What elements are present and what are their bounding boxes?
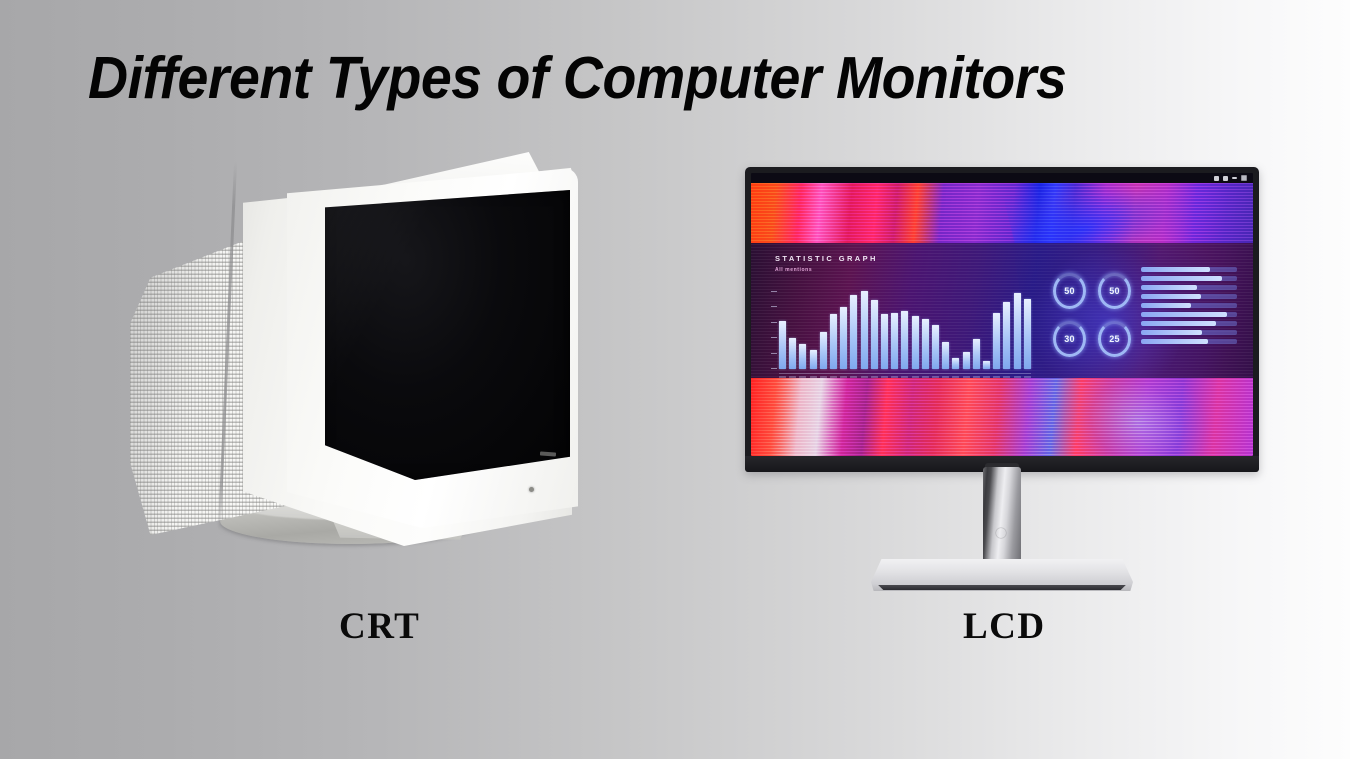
lcd-stand-base-edge bbox=[873, 585, 1131, 590]
bar bbox=[779, 321, 786, 369]
crt-caption: CRT bbox=[339, 605, 420, 648]
wallpaper-top-scanlines bbox=[751, 183, 1253, 247]
gauge-4: 25 bbox=[1094, 317, 1135, 361]
progress-bar-group bbox=[1141, 267, 1237, 344]
bar bbox=[1003, 302, 1010, 369]
progress-bar bbox=[1141, 312, 1237, 317]
bar bbox=[942, 342, 949, 369]
axis-tick bbox=[771, 353, 777, 354]
poster-canvas: Different Types of Computer Monitors CRT bbox=[0, 0, 1350, 759]
bar bbox=[861, 291, 868, 369]
crt-screen-glare bbox=[320, 190, 570, 480]
progress-bar-fill bbox=[1141, 276, 1222, 281]
minimize-icon[interactable] bbox=[1214, 176, 1219, 181]
bar bbox=[871, 300, 878, 369]
bar bbox=[850, 295, 857, 369]
bar bbox=[820, 332, 827, 369]
progress-bar-fill bbox=[1141, 285, 1197, 290]
bar bbox=[922, 319, 929, 369]
dashboard-title: STATISTIC GRAPH bbox=[775, 254, 878, 263]
maximize-icon[interactable] bbox=[1223, 176, 1228, 181]
progress-bar-fill bbox=[1141, 294, 1201, 299]
progress-bar bbox=[1141, 321, 1237, 326]
wallpaper-bottom-scanlines bbox=[751, 378, 1253, 456]
wallpaper-top-band bbox=[751, 183, 1253, 247]
gauge-1: 50 bbox=[1049, 269, 1090, 313]
progress-bar bbox=[1141, 294, 1237, 299]
progress-bar bbox=[1141, 285, 1237, 290]
bar bbox=[1024, 299, 1031, 369]
close-icon[interactable] bbox=[1241, 175, 1247, 181]
page-title: Different Types of Computer Monitors bbox=[88, 44, 1066, 112]
axis-tick bbox=[771, 337, 777, 338]
progress-bar bbox=[1141, 303, 1237, 308]
gauge-group: 50503025 bbox=[1049, 269, 1135, 361]
progress-bar-fill bbox=[1141, 267, 1210, 272]
progress-bar-fill bbox=[1141, 321, 1216, 326]
progress-bar-fill bbox=[1141, 312, 1227, 317]
wallpaper-bottom-band bbox=[751, 378, 1253, 456]
bar bbox=[881, 314, 888, 369]
lcd-stand-column bbox=[983, 467, 1021, 569]
gauge-2: 50 bbox=[1094, 269, 1135, 313]
gauge-3: 30 bbox=[1049, 317, 1090, 361]
lcd-panel: STATISTIC GRAPH All mentions 50503025 bbox=[745, 167, 1259, 472]
progress-bar bbox=[1141, 267, 1237, 272]
bar bbox=[810, 350, 817, 369]
lcd-display: STATISTIC GRAPH All mentions 50503025 bbox=[751, 173, 1253, 456]
gauge-value: 50 bbox=[1109, 286, 1120, 296]
progress-bar bbox=[1141, 276, 1237, 281]
progress-bar-fill bbox=[1141, 303, 1191, 308]
gauge-value: 25 bbox=[1109, 334, 1120, 344]
lcd-brand-mark bbox=[995, 527, 1007, 539]
bar bbox=[973, 339, 980, 369]
crt-monitor bbox=[130, 150, 600, 580]
lcd-caption: LCD bbox=[963, 605, 1046, 648]
bar bbox=[963, 352, 970, 369]
dashboard: STATISTIC GRAPH All mentions 50503025 bbox=[751, 243, 1253, 383]
axis-tick bbox=[771, 368, 777, 369]
progress-bar-fill bbox=[1141, 339, 1208, 344]
restore-icon[interactable] bbox=[1232, 177, 1237, 179]
progress-bar-fill bbox=[1141, 330, 1202, 335]
bar bbox=[830, 314, 837, 369]
bar bbox=[912, 316, 919, 369]
crt-power-led bbox=[529, 487, 534, 492]
axis-tick bbox=[771, 322, 777, 323]
bar-chart-axis bbox=[770, 291, 777, 369]
axis-tick bbox=[771, 306, 777, 307]
axis-tick bbox=[771, 291, 777, 292]
bar bbox=[891, 313, 898, 369]
bar bbox=[952, 358, 959, 369]
bar bbox=[983, 361, 990, 369]
bar-chart bbox=[779, 291, 1031, 369]
gauge-value: 50 bbox=[1064, 286, 1075, 296]
bar bbox=[1014, 293, 1021, 369]
dashboard-subtitle: All mentions bbox=[775, 267, 812, 273]
bar bbox=[799, 344, 806, 369]
progress-bar bbox=[1141, 330, 1237, 335]
gauge-value: 30 bbox=[1064, 334, 1075, 344]
progress-bar bbox=[1141, 339, 1237, 344]
lcd-monitor: STATISTIC GRAPH All mentions 50503025 bbox=[745, 167, 1260, 587]
bar bbox=[901, 311, 908, 369]
window-controls[interactable] bbox=[1214, 175, 1247, 181]
bar bbox=[932, 325, 939, 369]
bar-chart-baseline bbox=[779, 373, 1031, 374]
bar bbox=[789, 338, 796, 369]
bar bbox=[993, 313, 1000, 369]
bar bbox=[840, 307, 847, 369]
